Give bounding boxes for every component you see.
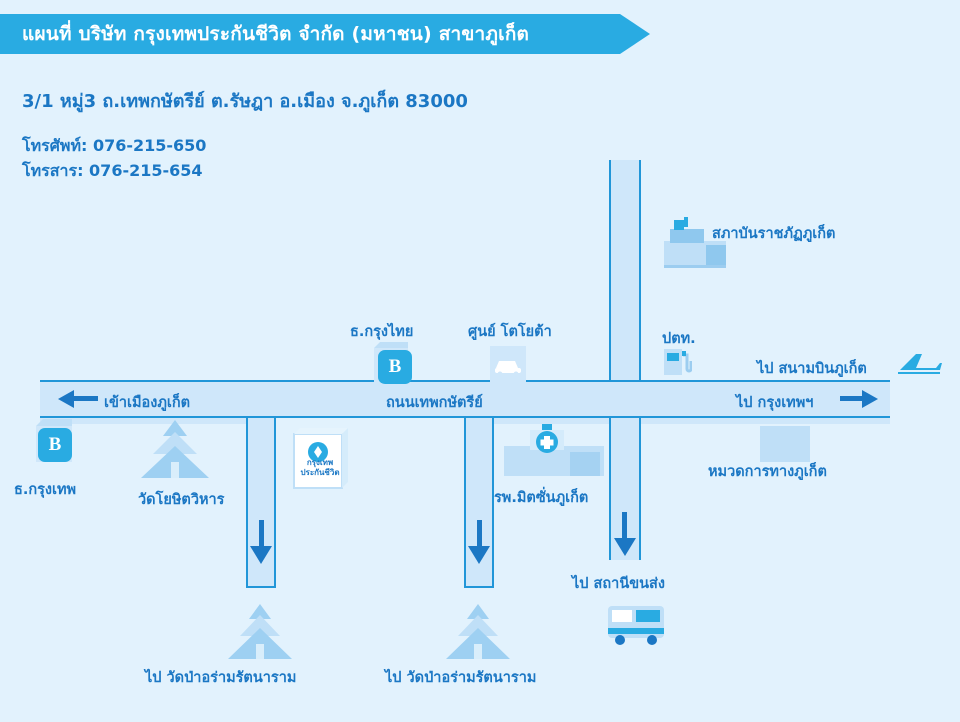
header-banner: แผนที่ บริษัท กรุงเทพประกันชีวิต จำกัด (…	[0, 14, 620, 54]
arrow-right-stem	[840, 396, 862, 401]
road-branch-mid-edge-l	[464, 418, 466, 588]
arrow-bus-stem	[622, 512, 627, 540]
building-icon-highway	[758, 422, 812, 464]
fax-text: โทรสาร: 076-215-654	[22, 158, 206, 183]
arrow-right-icon	[862, 390, 878, 408]
road-branch-mid-cap	[464, 586, 494, 588]
direction-label-temple-left: ไป วัดป่าอร่ามรัตนาราม	[145, 666, 296, 689]
arrow-left-stem	[74, 396, 98, 401]
car-icon	[486, 342, 532, 384]
arrow-down-icon-bus	[614, 538, 636, 556]
arrow-down-icon-left	[250, 546, 272, 564]
landmark-label-highway: หมวดการทางภูเก็ต	[708, 460, 827, 483]
road-label-main: ถนนเทพกษัตรีย์	[386, 391, 483, 414]
office-logo-text: กรุงเทพ ประกันชีวิต	[292, 458, 348, 478]
page-title: แผนที่ บริษัท กรุงเทพประกันชีวิต จำกัด (…	[0, 19, 529, 49]
direction-label-temple-right: ไป วัดป่าอร่ามรัตนาราม	[385, 666, 536, 689]
road-north-edge-right	[639, 160, 641, 382]
road-north-vertical	[611, 160, 639, 410]
landmark-label-toyota: ศูนย์ โตโยต้า	[468, 320, 552, 343]
road-north-edge-left	[609, 160, 611, 382]
arrow-mid-branch-stem	[477, 520, 482, 548]
bank-icon-bangkok: B	[38, 428, 72, 462]
temple-icon-left	[222, 602, 298, 662]
direction-label-bangkok: ไป กรุงเทพฯ	[736, 391, 813, 414]
landmark-label-rajabhat: สภาบันราชภัฏภูเก็ต	[712, 222, 835, 245]
road-edge-top	[40, 380, 890, 382]
road-branch-left-cap	[246, 586, 276, 588]
hospital-icon	[500, 424, 610, 482]
direction-label-bus-station: ไป สถานีขนส่ง	[572, 572, 665, 595]
road-south-edge-right	[639, 418, 641, 560]
road-branch-left-edge-r	[274, 418, 276, 588]
airplane-icon	[896, 350, 942, 378]
arrow-left-icon	[58, 390, 74, 408]
direction-label-airport: ไป สนามบินภูเก็ต	[757, 357, 867, 380]
landmark-label-wat-yasothi: วัดโยษิตวิหาร	[138, 488, 224, 511]
phone-text: โทรศัพท์: 076-215-650	[22, 133, 206, 158]
bus-icon	[604, 600, 670, 650]
arrow-left-branch-stem	[259, 520, 264, 548]
landmark-label-bangkok-bank: ธ.กรุงเทพ	[14, 478, 76, 501]
landmark-label-hospital: รพ.มิตซั่นภูเก็ต	[494, 486, 588, 509]
bank-icon-krungthai: B	[378, 350, 412, 384]
fuel-pump-icon	[662, 345, 692, 377]
address-text: 3/1 หมู่3 ถ.เทพกษัตรีย์ ต.รัษฎา อ.เมือง …	[22, 86, 468, 115]
direction-label-phuket-town: เข้าเมืองภูเก็ต	[104, 391, 190, 414]
temple-icon-mid	[440, 602, 516, 662]
landmark-label-krungthai: ธ.กรุงไทย	[350, 320, 413, 343]
arrow-down-icon-mid	[468, 546, 490, 564]
temple-icon-yasothi	[135, 418, 215, 482]
contact-block: โทรศัพท์: 076-215-650 โทรสาร: 076-215-65…	[22, 133, 206, 183]
road-branch-left-edge-l	[246, 418, 248, 588]
banner-tail	[620, 14, 650, 54]
